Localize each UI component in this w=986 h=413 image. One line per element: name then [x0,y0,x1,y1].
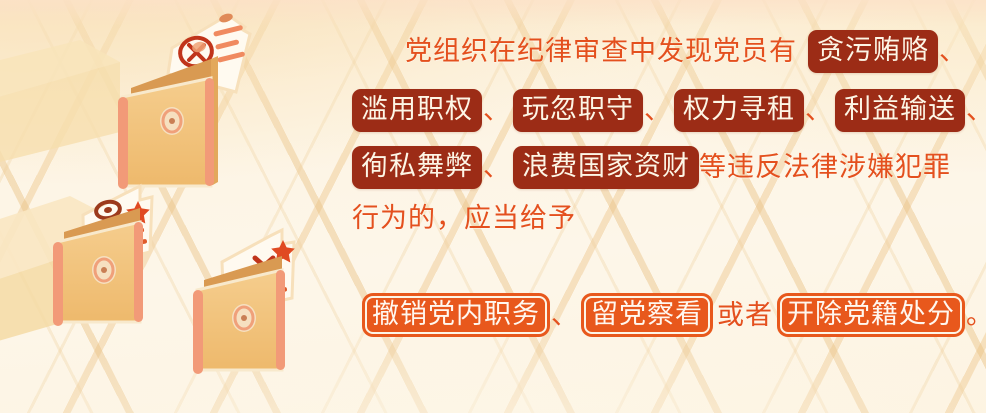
text-line-4: 行为的，应当给予 [352,205,576,232]
illustration-folders [0,0,380,413]
penalty-badge-kaichudangjichufen: 开除党籍处分 [777,293,965,337]
offence-badge-wanhuzhishou: 玩忽职守 [513,89,643,132]
separator-2: 、 [643,97,674,124]
line5-conjunction: 或者 [713,302,777,329]
separator-4: 、 [965,97,986,124]
text-line-1: 党组织在纪律审查中发现党员有 贪污贿赂 、 [405,30,969,73]
separator-3: 、 [804,97,835,124]
separator-1: 、 [482,97,513,124]
offence-badge-quanlixunzu: 权力寻租 [674,89,804,132]
shelf-slab-upper [0,40,120,172]
poster-root: 党组织在纪律审查中发现党员有 贪污贿赂 、 滥用职权 、 玩忽职守 、 权力寻租… [0,0,986,413]
text-content: 党组织在纪律审查中发现党员有 贪污贿赂 、 滥用职权 、 玩忽职守 、 权力寻租… [352,0,986,413]
offence-badge-liyishusong: 利益输送 [835,89,965,132]
text-line-2: 滥用职权 、 玩忽职守 、 权力寻租 、 利益输送 、 [352,89,986,132]
penalty-badge-chexiaodangneizhiwu: 撤销党内职务 [362,293,550,337]
text-line-5: 撤销党内职务 、 留党察看 或者 开除党籍处分 。 [362,293,986,337]
line1-separator: 、 [938,38,969,65]
line4-text: 行为的，应当给予 [352,205,576,232]
line1-intro-text: 党组织在纪律审查中发现党员有 [405,38,797,65]
offence-badge-lanyongzhiquan: 滥用职权 [352,89,482,132]
line3-trailing-text: 等违反法律涉嫌犯罪 [699,154,951,181]
offence-badge-langfeiguojiazicai: 浪费国家资财 [513,146,699,189]
folder-top [118,12,250,189]
offence-badge-tanwuhuilu: 贪污贿赂 [808,30,938,73]
offence-badge-xunsiwubi: 徇私舞弊 [352,146,482,189]
penalty-badge-liudangchakan: 留党察看 [581,293,713,337]
separator-6: 、 [550,302,581,329]
separator-5: 、 [482,154,513,181]
folder-bottom [193,230,295,374]
text-line-3: 徇私舞弊 、 浪费国家资财 等违反法律涉嫌犯罪 [352,146,951,189]
line5-period: 。 [965,302,986,329]
